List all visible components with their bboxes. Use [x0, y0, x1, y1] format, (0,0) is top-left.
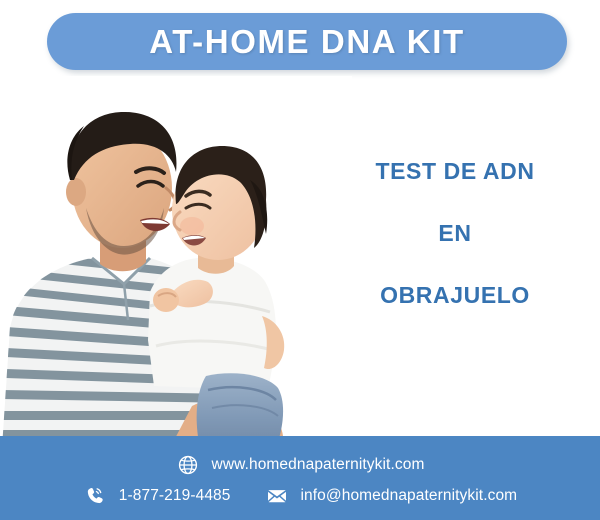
footer-website[interactable]: www.homednapaternitykit.com — [176, 453, 425, 477]
footer-contact-bar: www.homednapaternitykit.com 1-877-219-44… — [0, 436, 600, 520]
footer-row-contact: 1-877-219-4485 info@homednapaternitykit.… — [0, 484, 600, 508]
title-banner: AT-HOME DNA KIT — [47, 13, 567, 70]
headline-line-2: EN — [330, 222, 580, 245]
headline-line-3: OBRAJUELO — [330, 284, 580, 307]
headline-line-1: TEST DE ADN — [330, 160, 580, 183]
poster-canvas: AT-HOME DNA KIT — [0, 0, 600, 520]
family-photo — [0, 76, 352, 448]
footer-row-website: www.homednapaternitykit.com — [0, 453, 600, 477]
footer-website-text: www.homednapaternitykit.com — [212, 457, 425, 473]
footer-phone[interactable]: 1-877-219-4485 — [83, 484, 231, 508]
envelope-icon — [265, 484, 289, 508]
poster-title: AT-HOME DNA KIT — [149, 25, 464, 58]
footer-email[interactable]: info@homednapaternitykit.com — [265, 484, 518, 508]
footer-email-text: info@homednapaternitykit.com — [301, 488, 518, 504]
phone-icon — [83, 484, 107, 508]
globe-icon — [176, 453, 200, 477]
footer-phone-text: 1-877-219-4485 — [119, 488, 231, 504]
headline-block: TEST DE ADN EN OBRAJUELO — [330, 160, 580, 307]
